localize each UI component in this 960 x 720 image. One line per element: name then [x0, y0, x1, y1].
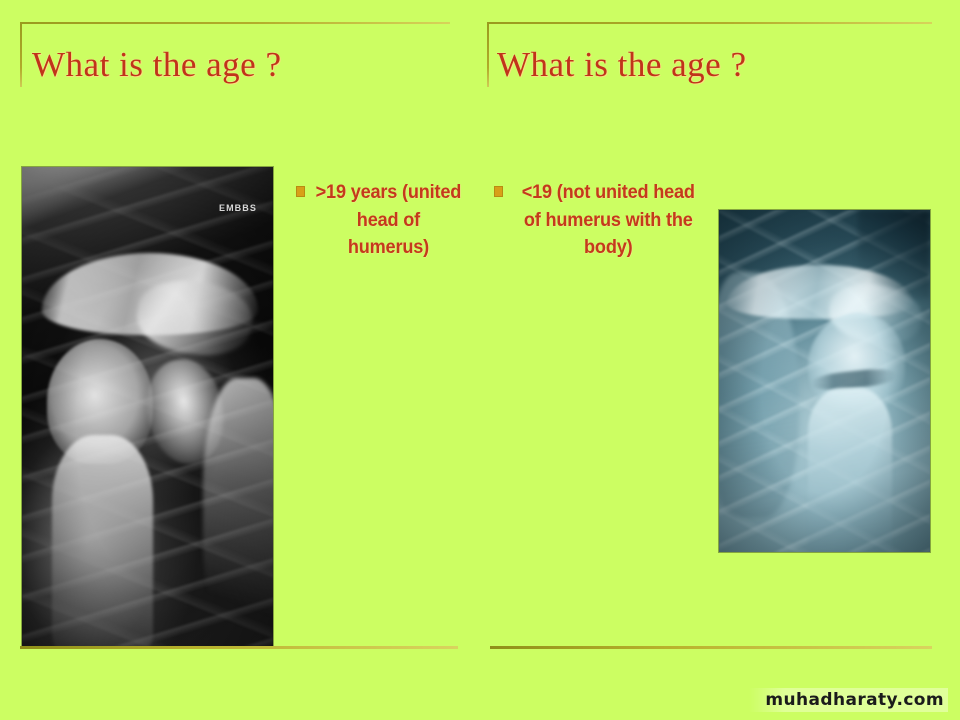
left-panel-title: What is the age ? — [32, 45, 282, 85]
left-xray-label: EMBBS — [219, 203, 257, 213]
left-panel-top-rule — [20, 22, 450, 24]
right-panel-bottom-rule — [490, 646, 932, 649]
left-xray-vignette — [22, 167, 273, 646]
left-xray-image: EMBBS — [22, 167, 273, 646]
slide-canvas: What is the age ? EMBBS >19 years (unite… — [0, 0, 960, 720]
square-bullet-icon — [296, 186, 305, 197]
right-bullet-item: <19 (not united head of humerus with the… — [494, 179, 719, 262]
right-bullet-text: <19 (not united head of humerus with the… — [512, 179, 705, 262]
left-bullet-item: >19 years (united head of humerus) — [296, 179, 474, 262]
left-panel-bottom-rule — [20, 646, 458, 649]
left-bullet-text: >19 years (united head of humerus) — [314, 179, 463, 262]
right-xray-image — [719, 210, 930, 552]
left-panel-vertical-rule — [20, 22, 22, 87]
right-panel-title: What is the age ? — [497, 45, 747, 85]
site-watermark: muhadharaty.com — [749, 688, 948, 712]
right-panel-vertical-rule — [487, 22, 489, 87]
square-bullet-icon — [494, 186, 503, 197]
right-panel-top-rule — [487, 22, 932, 24]
left-panel: What is the age ? EMBBS >19 years (unite… — [0, 0, 480, 720]
right-xray-vignette — [719, 210, 930, 552]
